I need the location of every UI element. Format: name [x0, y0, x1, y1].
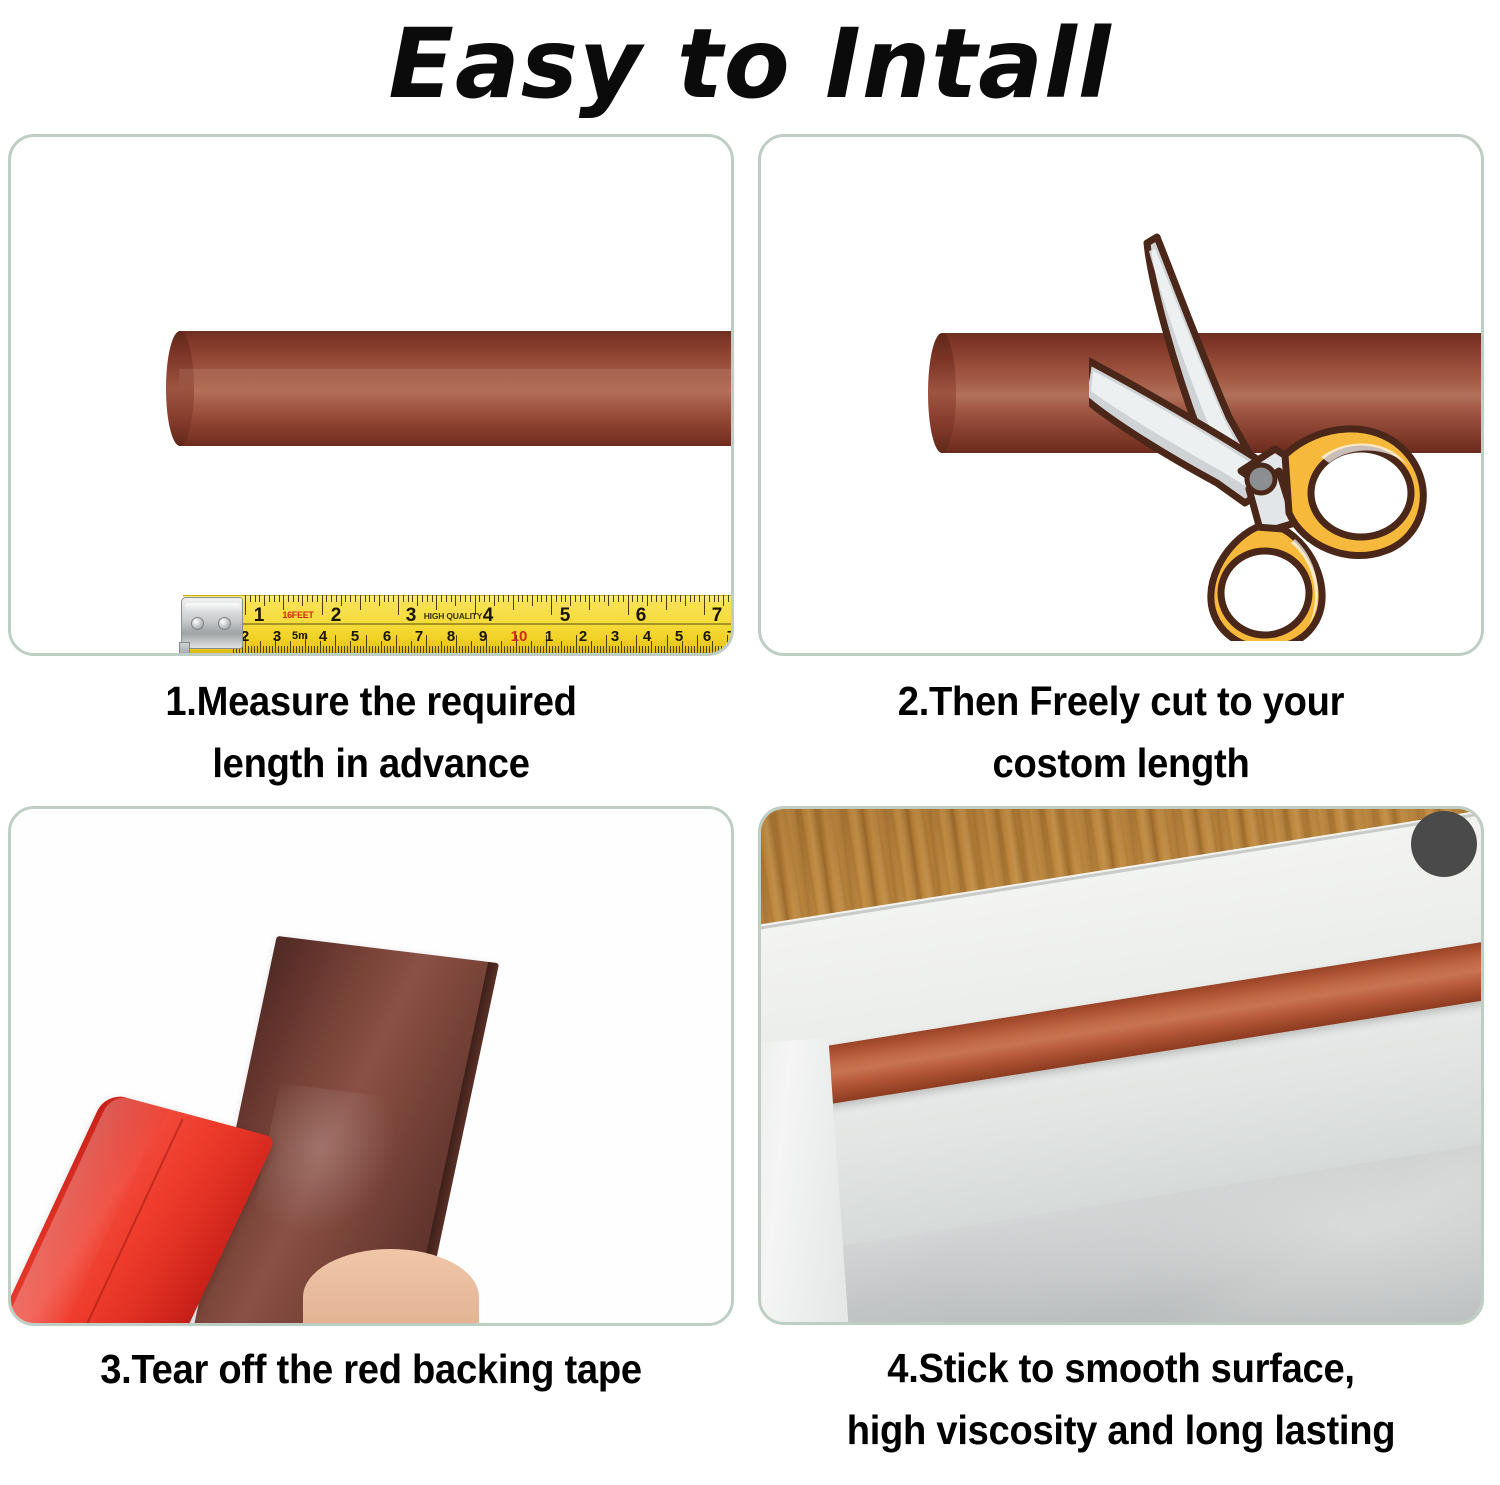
step-card-3: 3.Tear off the red backing tape: [8, 806, 748, 1400]
baseboard-strip-illustration: [179, 331, 734, 446]
tape-inch-mark: 1: [254, 606, 265, 625]
tape-measure-hook: [181, 597, 243, 649]
tape-brand-quality-label: HIGH QUALITY: [424, 612, 483, 621]
caption-line: 4.Stick to smooth surface,: [783, 1337, 1458, 1399]
tape-cm-mark: 3: [273, 629, 281, 644]
tape-cm-mark: 2: [579, 629, 587, 644]
step-card-4: 4.Stick to smooth surface, high viscosit…: [758, 806, 1498, 1462]
step-card-2: 2.Then Freely cut to your costom length: [758, 134, 1498, 795]
red-backing-highlight: [8, 1094, 166, 1326]
scissors-pivot: [1247, 465, 1275, 493]
tape-inch-mark: 5: [560, 606, 571, 625]
step-2-caption: 2.Then Freely cut to your costom length: [783, 670, 1458, 795]
installed-strip-photo: [761, 809, 1481, 1322]
caption-line: costom length: [783, 732, 1458, 794]
scissors-icon: [1089, 221, 1447, 641]
tape-cm-mark: 5: [351, 629, 359, 644]
step-1-illustration-panel: 1 2 3 4 5 6 7 16FEET HIGH QUALITY 2 3 5m…: [8, 134, 734, 656]
tape-cm-mark: 7: [415, 629, 423, 644]
step-2-illustration-panel: [758, 134, 1484, 656]
caption-line: length in advance: [33, 732, 708, 794]
caption-line: 1.Measure the required: [33, 670, 708, 732]
tape-cm-mark: 7: [727, 629, 734, 644]
tape-metric-label: 5m: [292, 631, 308, 642]
tape-hook-highlight: [185, 603, 241, 613]
tape-hook-rivet: [191, 617, 204, 630]
caption-line: 3.Tear off the red backing tape: [33, 1338, 708, 1400]
tape-cm-mark: 6: [703, 629, 711, 644]
tape-cm-mark: 1: [545, 629, 553, 644]
step-1-caption: 1.Measure the required length in advance: [33, 670, 708, 795]
tape-inch-mark: 3: [406, 606, 417, 625]
strip-sheen: [250, 1084, 404, 1243]
tape-measure-ticks: [183, 595, 734, 653]
corner-shadow-dot: [1411, 811, 1477, 877]
step-3-illustration-panel: [8, 806, 734, 1326]
tape-cm-mark: 6: [383, 629, 391, 644]
step-4-illustration-panel: [758, 806, 1484, 1325]
tape-hook-rivet: [218, 617, 231, 630]
tape-cm-mark: 4: [643, 629, 651, 644]
step-card-1: 1 2 3 4 5 6 7 16FEET HIGH QUALITY 2 3 5m…: [8, 134, 748, 795]
peel-backing-photo: [11, 809, 731, 1323]
tape-hook-tab: [179, 642, 190, 656]
tape-cm-mark: 3: [611, 629, 619, 644]
tape-inch-mark: 6: [636, 606, 647, 625]
tape-cm-mark: 9: [479, 629, 487, 644]
scissors-handle-bottom-hole: [1221, 551, 1309, 635]
tape-measure-illustration: 1 2 3 4 5 6 7 16FEET HIGH QUALITY 2 3 5m…: [183, 595, 734, 653]
tape-inch-mark: 7: [712, 606, 723, 625]
step-4-caption: 4.Stick to smooth surface, high viscosit…: [783, 1337, 1458, 1462]
caption-line: 2.Then Freely cut to your: [783, 670, 1458, 732]
step-3-caption: 3.Tear off the red backing tape: [33, 1338, 708, 1400]
page-title: Easy to Intall: [0, 0, 1500, 128]
steps-grid: 1 2 3 4 5 6 7 16FEET HIGH QUALITY 2 3 5m…: [0, 134, 1500, 1485]
tape-cm-mark: 8: [447, 629, 455, 644]
tape-cm-mark: 4: [319, 629, 327, 644]
tape-brand-feet-label: 16FEET: [282, 611, 313, 620]
tape-inch-mark: 2: [331, 606, 342, 625]
tape-cm-mark-highlight: 10: [511, 629, 528, 644]
tape-cm-mark: 5: [675, 629, 683, 644]
scissors-handle-right-hole: [1311, 449, 1411, 537]
tape-inch-mark: 4: [483, 606, 494, 625]
caption-line: high viscosity and long lasting: [783, 1399, 1458, 1461]
